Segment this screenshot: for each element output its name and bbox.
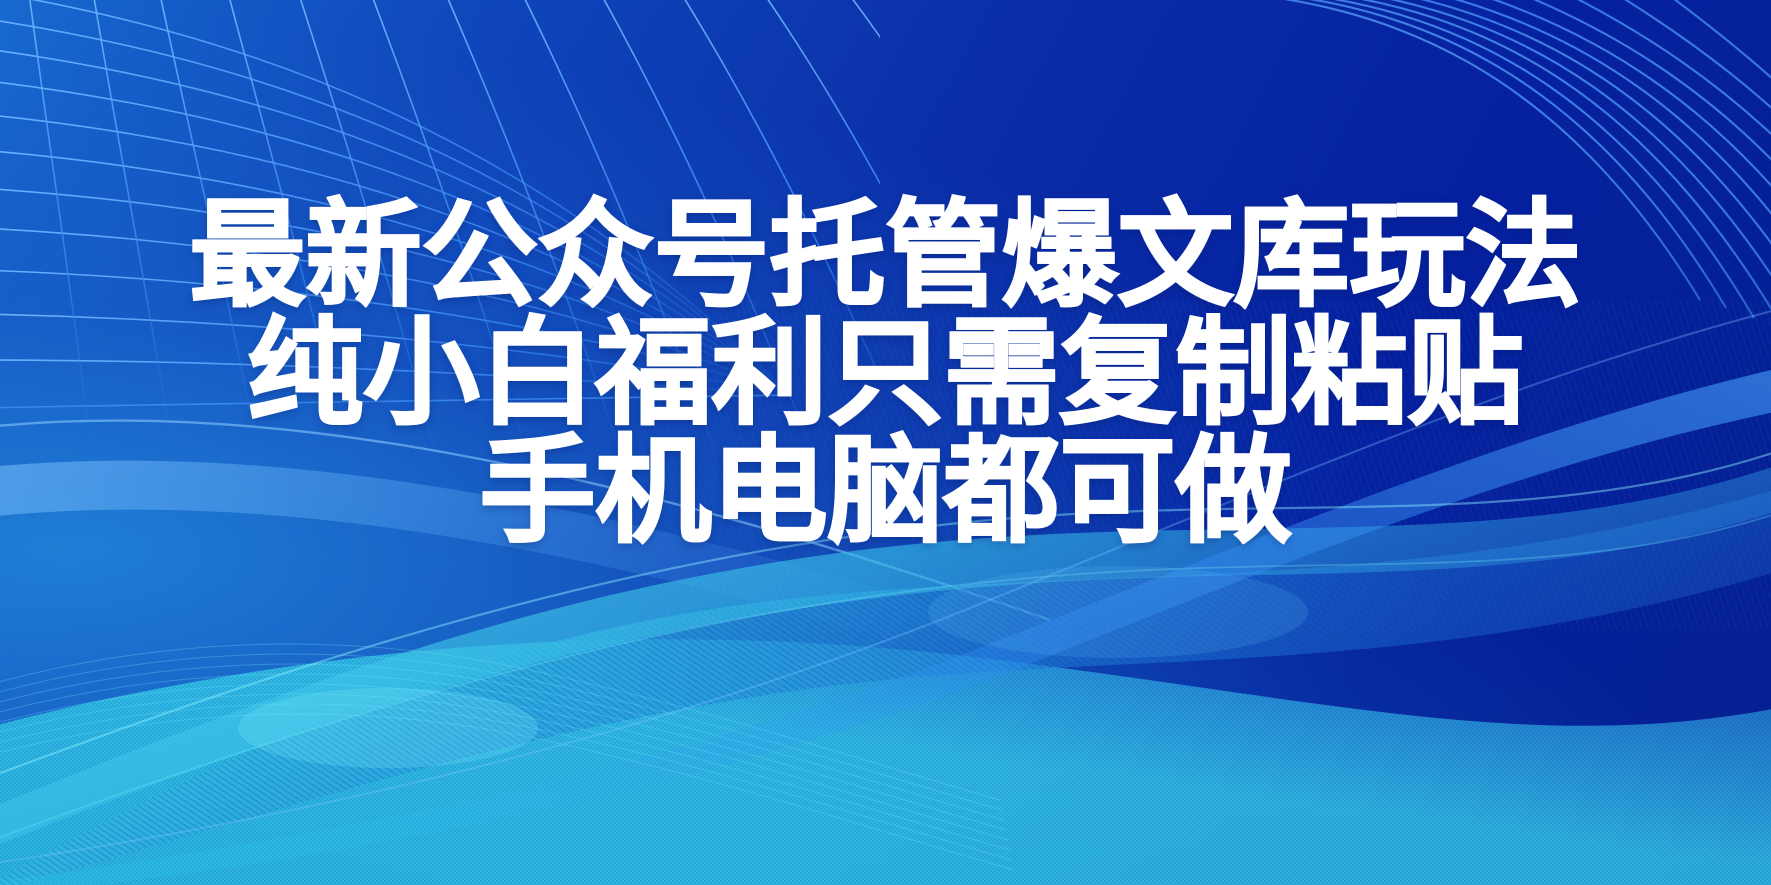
headline-block: 最新公众号托管爆文库玩法 纯小白福利只需复制粘贴 手机电脑都可做 [0, 196, 1771, 550]
banner-canvas: 最新公众号托管爆文库玩法 纯小白福利只需复制粘贴 手机电脑都可做 [0, 0, 1771, 885]
headline-line-3: 手机电脑都可做 [0, 432, 1771, 550]
headline-line-2: 纯小白福利只需复制粘贴 [0, 314, 1771, 432]
headline-line-1: 最新公众号托管爆文库玩法 [0, 196, 1771, 314]
